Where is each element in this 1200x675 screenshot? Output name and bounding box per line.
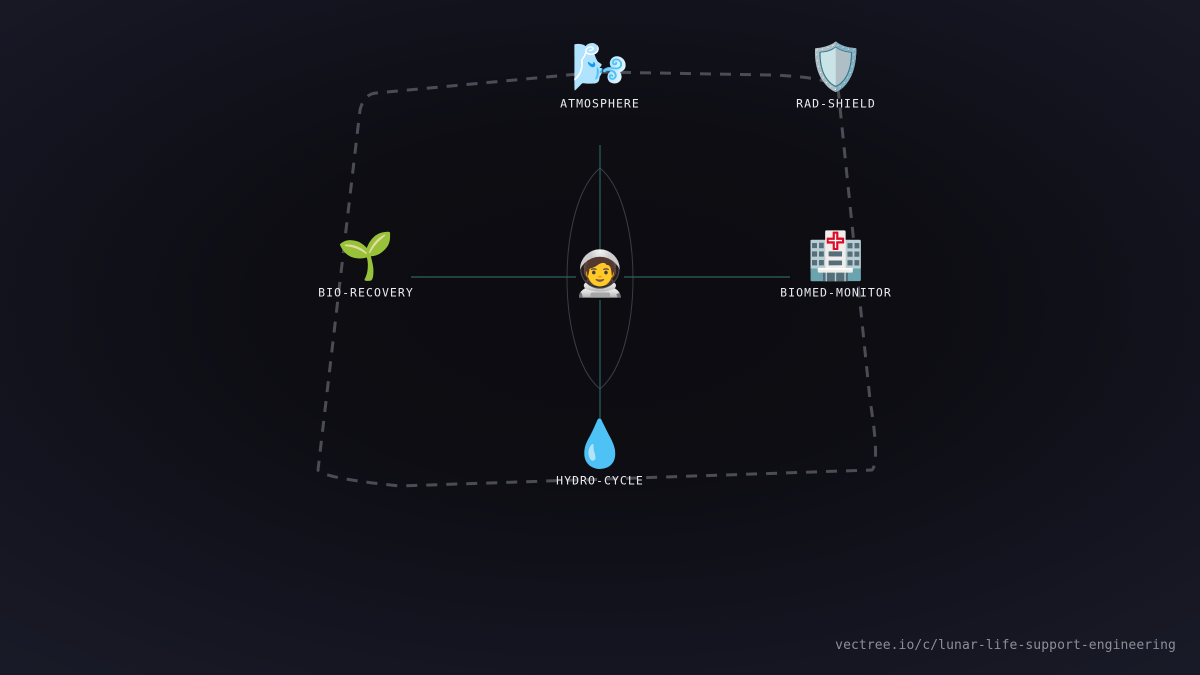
astronaut-emoji: 🧑‍🚀 (573, 253, 628, 297)
graph-node-bio-recovery[interactable]: 🌱 BIO-RECOVERY (256, 233, 476, 300)
seedling-emoji: 🌱 (337, 233, 394, 279)
shield-emoji: 🛡️ (807, 44, 864, 90)
graph-node-atmosphere[interactable]: 🌬️ ATMOSPHERE (490, 44, 710, 111)
graph-node-label-rad-shield: RAD-SHIELD (796, 97, 876, 111)
graph-node-biomed-monitor[interactable]: 🏥 BIOMED-MONITOR (726, 233, 946, 300)
graph-node-crew[interactable]: 🧑‍🚀 (490, 253, 710, 304)
graph-node-hydro-cycle[interactable]: 💧 HYDRO-CYCLE (490, 421, 710, 488)
graph-node-label-bio-recovery: BIO-RECOVERY (318, 286, 414, 300)
droplet-emoji: 💧 (571, 421, 628, 467)
graph-node-label-atmosphere: ATMOSPHERE (560, 97, 640, 111)
graph-node-label-biomed-monitor: BIOMED-MONITOR (780, 286, 892, 300)
canvas-root: 🧑‍🚀 🌬️ ATMOSPHERE 🛡️ RAD-SHIELD 🏥 BIOMED… (0, 0, 1200, 675)
graph-node-rad-shield[interactable]: 🛡️ RAD-SHIELD (726, 44, 946, 111)
hospital-emoji: 🏥 (807, 233, 864, 279)
wind-face-emoji: 🌬️ (571, 44, 628, 90)
graph-node-label-hydro-cycle: HYDRO-CYCLE (556, 474, 644, 488)
site-url: vectree.io/c/lunar-life-support-engineer… (835, 638, 1176, 653)
